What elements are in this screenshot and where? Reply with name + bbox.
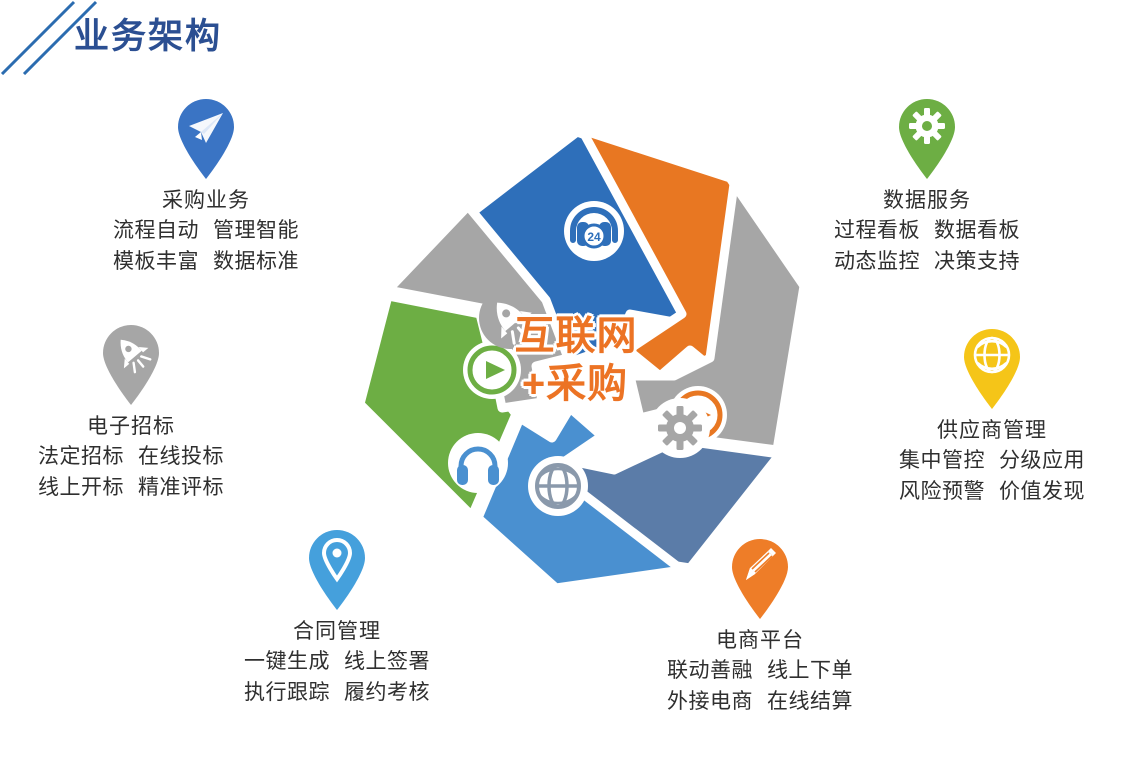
callout-title: 供应商管理 [937, 416, 1047, 446]
callout-line-1: 一键生成线上签署 [244, 647, 430, 677]
callout-data-service[interactable]: 数据服务 过程看板数据看板 动态监控决策支持 [812, 96, 1042, 277]
callout-line-1-a: 联动善融 [667, 659, 753, 682]
callout-title: 电子招标 [87, 412, 175, 442]
callout-contract[interactable]: 合同管理 一键生成线上签署 执行跟踪履约考核 [212, 527, 462, 708]
rocket-icon [98, 322, 164, 406]
callout-line-2-a: 线上开标 [38, 476, 124, 499]
callout-title: 合同管理 [293, 617, 381, 647]
pencil-icon [727, 536, 793, 620]
callout-line-1: 联动善融线上下单 [667, 656, 853, 686]
callout-line-2: 动态监控决策支持 [834, 247, 1020, 277]
callout-line-2-a: 执行跟踪 [244, 681, 330, 704]
callout-line-1: 集中管控分级应用 [899, 446, 1085, 476]
callout-line-1-a: 法定招标 [38, 445, 124, 468]
callout-line-2: 风险预警价值发现 [899, 477, 1085, 507]
paper-plane-icon [173, 96, 239, 180]
callout-line-2-b: 数据标准 [213, 250, 299, 273]
callout-line-2-a: 动态监控 [834, 250, 920, 273]
callout-line-2: 模板丰富数据标准 [113, 247, 299, 277]
callout-procurement[interactable]: 采购业务 流程自动管理智能 模板丰富数据标准 [86, 96, 326, 277]
callout-line-2-a: 外接电商 [667, 690, 753, 713]
callout-line-1-a: 过程看板 [834, 219, 920, 242]
page-title: 业务架构 [74, 8, 222, 59]
callout-line-1-a: 一键生成 [244, 650, 330, 673]
callout-line-1-b: 管理智能 [213, 219, 299, 242]
callout-line-1-b: 在线投标 [138, 445, 224, 468]
callout-line-1-b: 数据看板 [934, 219, 1020, 242]
callout-title: 数据服务 [883, 186, 971, 216]
callout-title: 采购业务 [162, 186, 250, 216]
callout-line-2: 线上开标精准评标 [38, 473, 224, 503]
gear-icon [894, 96, 960, 180]
callout-supplier[interactable]: 供应商管理 集中管控分级应用 风险预警价值发现 [872, 326, 1112, 507]
callout-line-1: 流程自动管理智能 [113, 216, 299, 246]
callout-line-2-b: 价值发现 [999, 480, 1085, 503]
callout-line-1-a: 流程自动 [113, 219, 199, 242]
callout-line-2-a: 风险预警 [899, 480, 985, 503]
callout-line-1-b: 分级应用 [999, 449, 1085, 472]
location-pin-icon [304, 527, 370, 611]
callout-line-2-b: 决策支持 [934, 250, 1020, 273]
headphones-icon [448, 433, 508, 493]
callout-line-1: 法定招标在线投标 [38, 442, 224, 472]
rocket-icon [479, 287, 541, 349]
callout-line-1-a: 集中管控 [899, 449, 985, 472]
callout-line-2-a: 模板丰富 [113, 250, 199, 273]
callout-line-1-b: 线上下单 [767, 659, 853, 682]
callout-line-2-b: 在线结算 [767, 690, 853, 713]
callout-line-1: 过程看板数据看板 [834, 216, 1020, 246]
play-icon-green [463, 341, 521, 399]
callout-line-2: 外接电商在线结算 [667, 687, 853, 717]
callout-line-2-b: 履约考核 [344, 681, 430, 704]
support-24h-icon: 24 [564, 201, 624, 261]
svg-text:24: 24 [587, 230, 601, 244]
globe-icon [959, 326, 1025, 410]
callout-line-1-b: 线上签署 [344, 650, 430, 673]
callout-line-2: 执行跟踪履约考核 [244, 678, 430, 708]
gear-icon [650, 398, 710, 458]
globe-icon [528, 456, 588, 516]
callout-bidding[interactable]: 电子招标 法定招标在线投标 线上开标精准评标 [6, 322, 256, 503]
callout-line-2-b: 精准评标 [138, 476, 224, 499]
callout-ecommerce[interactable]: 电商平台 联动善融线上下单 外接电商在线结算 [640, 536, 880, 717]
callout-title: 电商平台 [716, 626, 804, 656]
pinwheel-segments [360, 130, 804, 588]
slide-canvas: 业务架构 [0, 0, 1122, 757]
